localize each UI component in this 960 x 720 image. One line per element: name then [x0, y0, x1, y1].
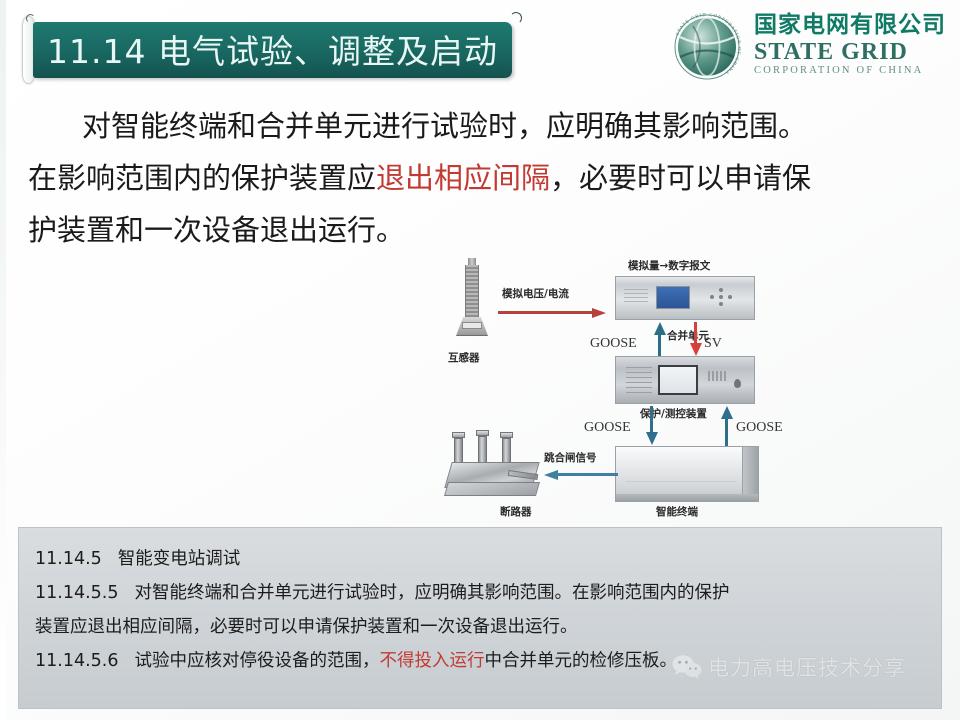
reference-line: 11.14.5.5对智能终端和合并单元进行试验时，应明确其影响范围。在影响范围内…	[35, 576, 925, 610]
page-title: 11.14 电气试验、调整及启动	[47, 25, 498, 73]
reference-number: 11.14.5.6	[35, 644, 119, 678]
trip-close-signal-arrow	[544, 470, 618, 480]
sv-signal-arrow	[690, 322, 702, 356]
body-line-2-suffix: ，必要时可以申请保	[550, 161, 811, 195]
merging-unit-device	[615, 276, 755, 320]
watermark-text: 电力高电压技术分享	[708, 652, 906, 682]
label-goose-right: GOOSE	[736, 420, 783, 436]
logo-text-block: 国家电网有限公司 STATE GRID CORPORATION OF CHINA	[754, 14, 946, 81]
globe-icon: STATE GRID CORPORATION OF CHINA	[670, 10, 744, 84]
label-analog-to-digital: 模拟量→数字报文	[628, 258, 710, 273]
instrument-transformer-icon	[452, 258, 492, 346]
reference-line: 装置应退出相应间隔，必要时可以申请保护装置和一次设备退出运行。	[35, 610, 925, 644]
label-instrument-transformer: 互感器	[448, 350, 480, 365]
left-edge-decoration	[0, 0, 6, 720]
body-line-2-highlight: 退出相应间隔	[376, 161, 550, 195]
logo-english-subtitle: CORPORATION OF CHINA	[754, 66, 946, 77]
body-line-1: 对智能终端和合并单元进行试验时，应明确其影响范围。	[28, 100, 933, 152]
watermark: 电力高电压技术分享	[672, 652, 906, 682]
label-goose-left: GOOSE	[590, 336, 637, 352]
body-line-1-text: 对智能终端和合并单元进行试验时，应明确其影响范围。	[82, 109, 807, 143]
body-paragraph: 对智能终端和合并单元进行试验时，应明确其影响范围。 在影响范围内的保护装置应退出…	[28, 100, 933, 256]
reference-text: 对智能终端和合并单元进行试验时，应明确其影响范围。在影响范围内的保护	[135, 583, 730, 603]
analog-signal-arrow	[498, 308, 608, 318]
protection-control-device	[615, 356, 755, 404]
reference-number: 11.14.5	[35, 542, 102, 576]
keypad-icon	[708, 288, 738, 308]
label-circuit-breaker: 断路器	[500, 504, 532, 519]
substation-architecture-diagram: 互感器 模拟电压/电流 模拟量→数字报文 合并单元 SV GOOSE 保护/测控…	[440, 248, 770, 526]
logo-chinese-name: 国家电网有限公司	[754, 14, 946, 37]
wechat-icon	[672, 654, 702, 680]
state-grid-logo: STATE GRID CORPORATION OF CHINA 国家电网有限公司…	[670, 10, 946, 84]
body-line-2: 在影响范围内的保护装置应退出相应间隔，必要时可以申请保	[28, 152, 933, 204]
goose-uplink-arrow	[721, 406, 733, 446]
circuit-breaker-icon	[446, 430, 542, 502]
reference-text: 智能变电站调试	[118, 549, 241, 569]
goose-downlink-arrow	[646, 406, 658, 446]
title-bar: 11.14 电气试验、调整及启动	[33, 22, 512, 78]
body-line-2-prefix: 在影响范围内的保护装置应	[28, 161, 376, 195]
label-smart-terminal: 智能终端	[656, 504, 698, 519]
reference-last-suffix: 中合并单元的检修压板。	[485, 651, 678, 671]
reference-line: 11.14.5智能变电站调试	[35, 542, 925, 576]
label-goose-mid: GOOSE	[584, 420, 631, 436]
smart-terminal-device	[615, 446, 759, 502]
label-analog-voltage-current: 模拟电压/电流	[502, 286, 569, 301]
slide-canvas: 11.14 电气试验、调整及启动	[0, 0, 960, 720]
label-trip-close-signal: 跳合闸信号	[544, 450, 597, 465]
reference-number: 11.14.5.5	[35, 576, 119, 610]
reference-last-prefix: 试验中应核对停役设备的范围，	[135, 651, 380, 671]
merging-unit-uplink-arrow	[654, 322, 666, 356]
reference-last-highlight: 不得投入运行	[380, 651, 485, 671]
reference-text: 装置应退出相应间隔，必要时可以申请保护装置和一次设备退出运行。	[35, 617, 578, 637]
logo-english-name: STATE GRID	[754, 40, 946, 64]
label-merging-unit: 合并单元	[667, 328, 709, 343]
body-line-3-text: 护装置和一次设备退出运行。	[28, 213, 405, 247]
ribbon-curl-icon	[510, 12, 522, 24]
label-sv: SV	[704, 336, 722, 352]
